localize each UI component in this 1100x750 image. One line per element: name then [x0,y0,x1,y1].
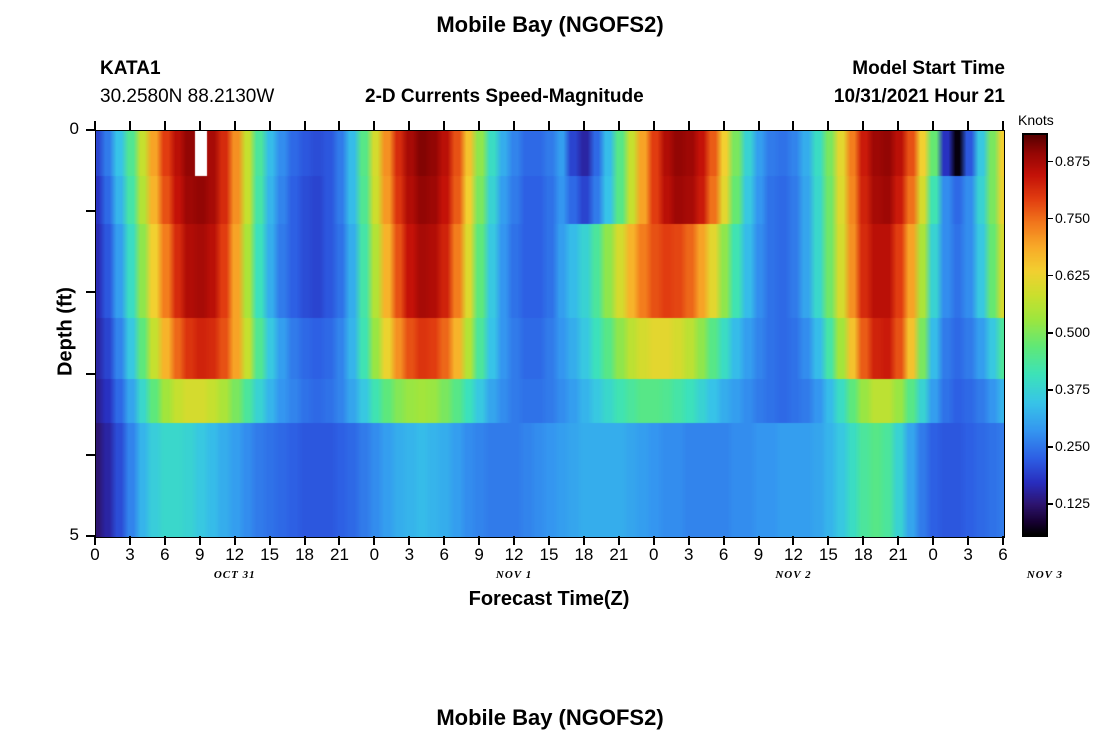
colorbar-tick-label: 0.500 [1055,324,1090,340]
colorbar-tick-mark [1046,503,1053,505]
x-tick-mark [513,536,515,545]
x-tick-mark-top [653,121,655,130]
x-tick-mark [862,536,864,545]
x-tick-mark-top [827,121,829,130]
x-date-label: NOV 2 [748,569,838,581]
y-tick-mark [86,291,95,293]
x-tick-mark-top [199,121,201,130]
x-axis-title: Forecast Time(Z) [95,588,1003,611]
x-tick-mark [443,536,445,545]
x-tick-mark-top [897,121,899,130]
x-tick-mark-top [932,121,934,130]
x-tick-mark [792,536,794,545]
x-tick-mark-top [478,121,480,130]
colorbar [1022,133,1048,537]
footer-title: Mobile Bay (NGOFS2) [0,705,1100,731]
y-tick-label: 0 [49,119,79,139]
colorbar-tick-label: 0.375 [1055,381,1090,397]
x-tick-mark-top [688,121,690,130]
x-tick-mark [758,536,760,545]
heatmap-plot-area [95,130,1005,538]
x-tick-mark-top [164,121,166,130]
x-tick-mark [199,536,201,545]
y-tick-mark [86,454,95,456]
colorbar-tick-mark [1046,161,1053,163]
x-tick-mark [1002,536,1004,545]
y-axis-title: Depth (ft) [55,252,78,412]
x-tick-mark [897,536,899,545]
colorbar-tick-label: 0.125 [1055,495,1090,511]
x-tick-mark-top [443,121,445,130]
y-tick-mark [86,373,95,375]
x-tick-mark-top [862,121,864,130]
x-tick-mark [304,536,306,545]
x-tick-mark-top [513,121,515,130]
heatmap-canvas [96,131,1004,537]
x-tick-mark-top [723,121,725,130]
x-tick-mark [478,536,480,545]
x-tick-mark-top [304,121,306,130]
x-tick-mark [827,536,829,545]
y-tick-label: 5 [49,525,79,545]
x-tick-mark [967,536,969,545]
x-tick-mark-top [618,121,620,130]
model-start-time-label: Model Start Time [0,58,1005,80]
colorbar-tick-mark [1046,332,1053,334]
x-tick-mark-top [758,121,760,130]
x-tick-mark-top [408,121,410,130]
x-tick-mark-top [373,121,375,130]
x-tick-mark [408,536,410,545]
x-tick-mark [164,536,166,545]
colorbar-tick-mark [1046,389,1053,391]
x-tick-mark [653,536,655,545]
x-tick-mark-top [234,121,236,130]
page-title: Mobile Bay (NGOFS2) [0,12,1100,38]
colorbar-tick-label: 0.250 [1055,438,1090,454]
x-tick-mark [583,536,585,545]
x-tick-mark-top [583,121,585,130]
x-date-label: NOV 3 [1000,569,1090,581]
x-tick-mark [932,536,934,545]
x-tick-mark [338,536,340,545]
x-tick-mark-top [269,121,271,130]
x-date-label: NOV 1 [469,569,559,581]
x-tick-label: 6 [983,545,1023,565]
colorbar-gradient [1024,135,1046,535]
x-tick-mark [688,536,690,545]
y-tick-mark [86,210,95,212]
colorbar-title: Knots [1018,112,1054,128]
x-tick-mark-top [94,121,96,130]
x-tick-mark [269,536,271,545]
colorbar-tick-mark [1046,446,1053,448]
x-tick-mark-top [792,121,794,130]
x-tick-mark-top [338,121,340,130]
x-tick-mark [723,536,725,545]
colorbar-tick-mark [1046,218,1053,220]
x-tick-mark [129,536,131,545]
colorbar-tick-label: 0.875 [1055,153,1090,169]
colorbar-tick-label: 0.750 [1055,210,1090,226]
x-tick-mark [618,536,620,545]
x-tick-mark-top [548,121,550,130]
x-tick-mark [234,536,236,545]
model-start-time-value: 10/31/2021 Hour 21 [0,86,1005,108]
x-date-label: OCT 31 [190,569,280,581]
x-tick-mark [548,536,550,545]
colorbar-tick-mark [1046,275,1053,277]
x-tick-mark-top [129,121,131,130]
x-tick-mark [373,536,375,545]
x-tick-mark-top [1002,121,1004,130]
colorbar-tick-label: 0.625 [1055,267,1090,283]
x-tick-mark-top [967,121,969,130]
x-tick-mark [94,536,96,545]
